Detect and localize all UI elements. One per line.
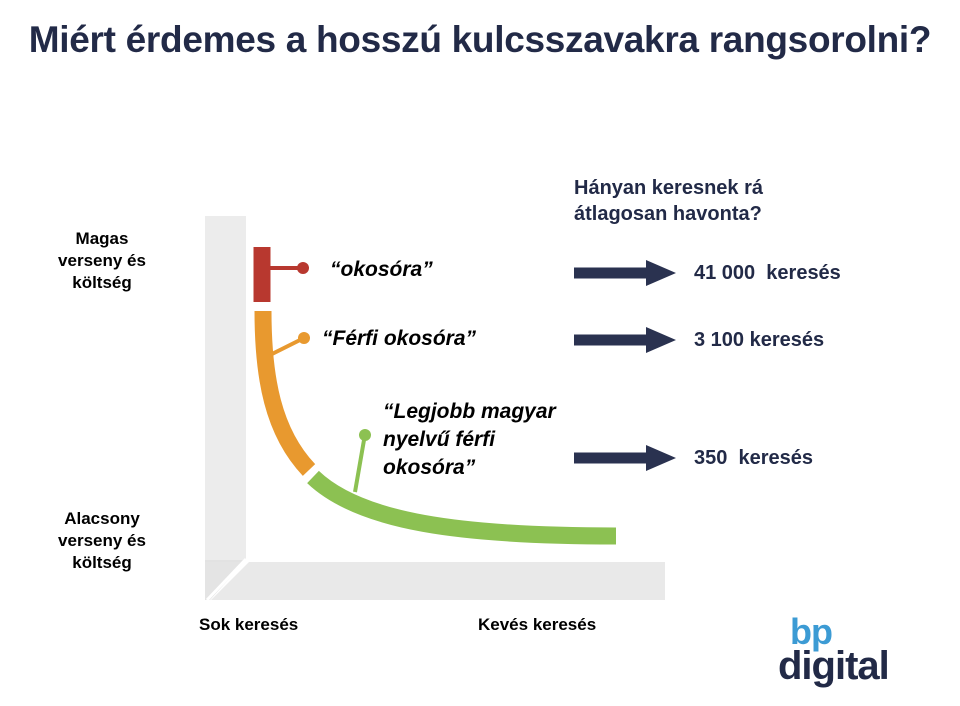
curve-segment-green — [313, 477, 616, 536]
logo-wordmark-digital: digital — [778, 646, 948, 686]
axis-label-many-searches: Sok keresés — [199, 615, 298, 635]
arrow-right-icon — [574, 445, 676, 471]
search-volume-value-3: 350 keresés — [694, 447, 813, 470]
search-volume-value-2: 3 100 keresés — [694, 329, 824, 352]
axis-caption-low-competition: Alacsony verseny és költség — [22, 508, 182, 574]
bp-digital-logo: bp digital — [778, 614, 948, 698]
leader-dot-ferfi-okosora — [298, 332, 310, 344]
keyword-label-head: “okosóra” — [330, 256, 433, 284]
keyword-label-long-tail: “Legjobb magyar nyelvű férfi okosóra” — [383, 398, 556, 482]
axis-caption-high-competition: Magas verseny és költség — [22, 228, 182, 294]
arrow-right-icon — [574, 260, 676, 286]
search-volume-value-1: 41 000 keresés — [694, 262, 841, 285]
search-volume-row-3: 350 keresés — [574, 443, 813, 473]
search-volume-header: Hányan keresnek rá átlagosan havonta? — [574, 175, 904, 228]
search-volume-row-2: 3 100 keresés — [574, 325, 824, 355]
axis-label-few-searches: Kevés keresés — [478, 615, 596, 635]
y-axis-wall — [205, 216, 246, 560]
leader-dot-okosora — [297, 262, 309, 274]
search-volume-row-1: 41 000 keresés — [574, 258, 841, 288]
leader-dot-long-tail — [359, 429, 371, 441]
leader-line-long-tail — [355, 440, 364, 492]
keyword-label-body: “Férfi okosóra” — [322, 325, 476, 353]
x-axis-floor — [211, 562, 665, 600]
leader-line-ferfi-okosora — [270, 340, 300, 355]
arrow-right-icon — [574, 327, 676, 353]
